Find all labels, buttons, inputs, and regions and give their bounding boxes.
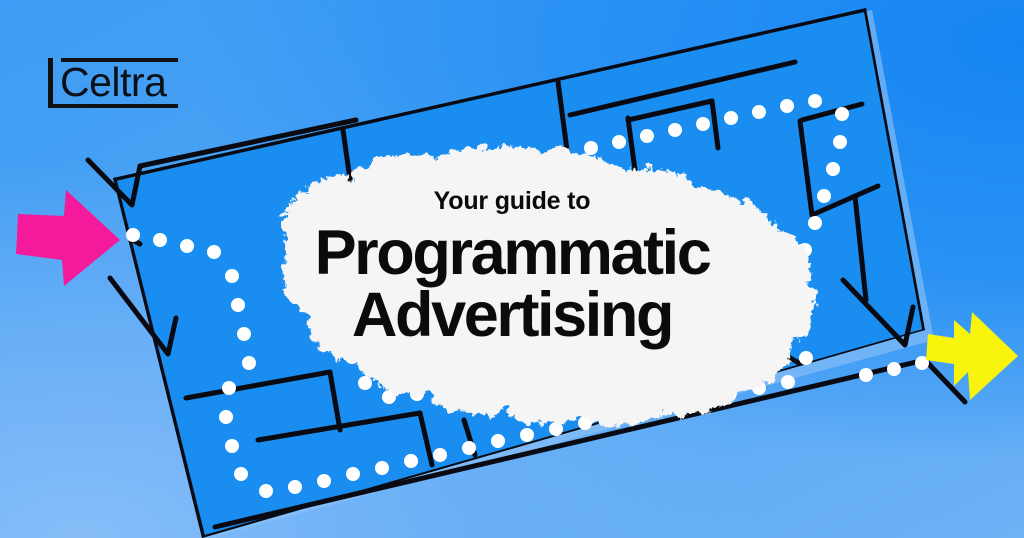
yellow-double-arrow-icon [920, 306, 1024, 406]
title-line-2: Advertising [262, 284, 762, 346]
headline-block: Your guide to Programmatic Advertising [262, 186, 762, 346]
logo-bar [48, 58, 53, 104]
hero-banner: Your guide to Programmatic Advertising C… [0, 0, 1024, 538]
title-line-1: Programmatic [315, 218, 710, 288]
logo-rule-bottom [48, 104, 178, 108]
pink-arrow-icon [8, 186, 128, 290]
headline-kicker: Your guide to [262, 186, 762, 216]
logo-wordmark: Celtra [60, 60, 166, 104]
celtra-logo[interactable]: Celtra [48, 52, 178, 108]
page-title: Programmatic Advertising [262, 222, 762, 346]
